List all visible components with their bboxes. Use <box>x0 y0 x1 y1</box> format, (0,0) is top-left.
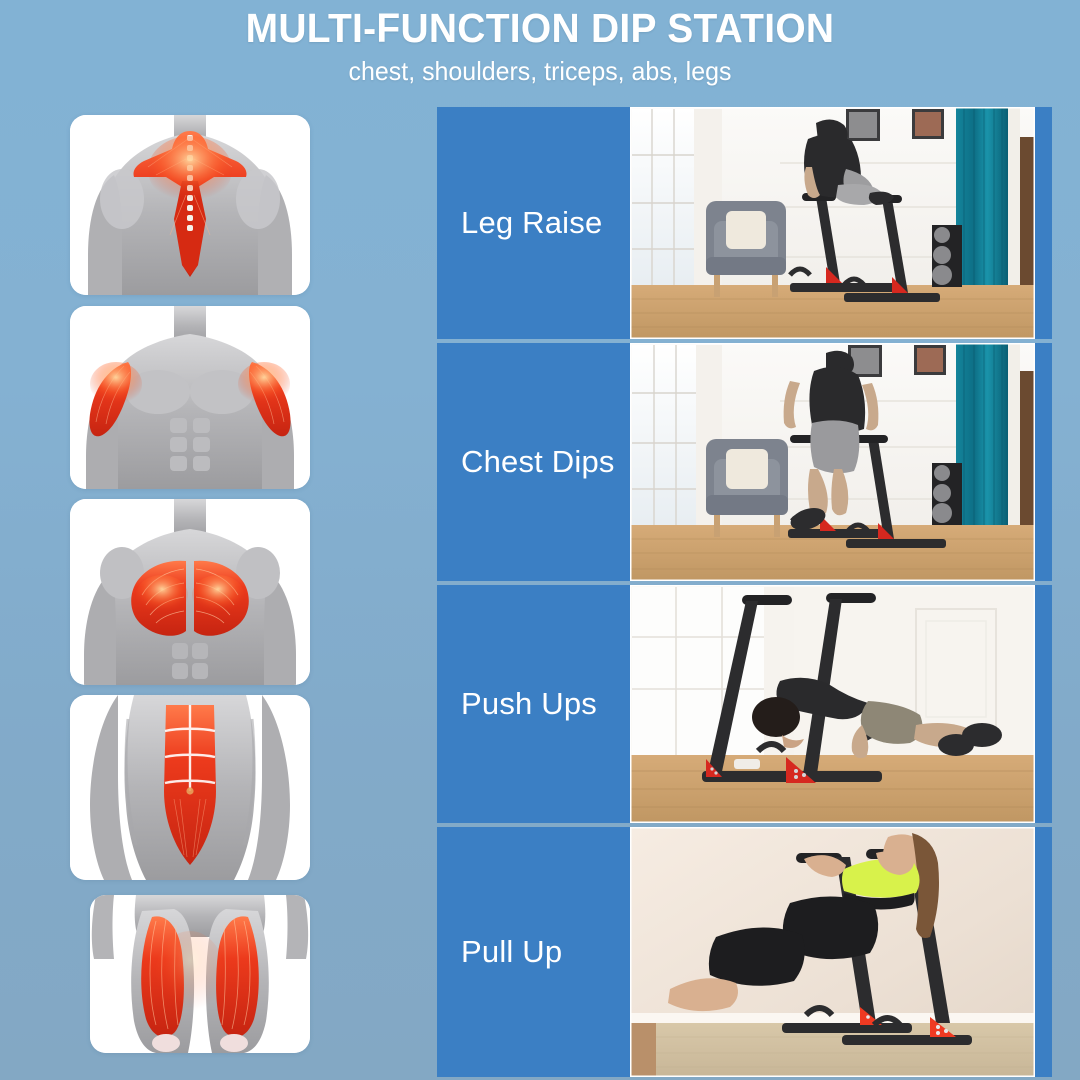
scene-pull-up <box>630 827 1035 1077</box>
exercise-label-text: Chest Dips <box>461 444 615 480</box>
exercise-photo-chest-dips <box>630 343 1035 581</box>
anatomy-illustration-legs <box>90 895 310 1053</box>
anatomy-illustration-chest <box>70 499 310 685</box>
exercise-row-chest-dips[interactable]: Chest Dips <box>437 343 1052 581</box>
anatomy-card-shoulders-deltoids <box>70 306 310 489</box>
row-edge-blue <box>1035 827 1052 1077</box>
anatomy-column <box>0 103 400 1080</box>
anatomy-illustration-back <box>70 115 310 295</box>
exercise-label-leg-raise: Leg Raise <box>437 107 630 339</box>
exercise-row-push-ups[interactable]: Push Ups <box>437 585 1052 823</box>
exercise-label-push-ups: Push Ups <box>437 585 630 823</box>
scene-chest-dips <box>630 343 1035 581</box>
row-edge-blue <box>1035 585 1052 823</box>
anatomy-illustration-abs <box>70 695 310 880</box>
page-subtitle: chest, shoulders, triceps, abs, legs <box>22 57 1059 86</box>
exercise-photo-pull-up <box>630 827 1035 1077</box>
anatomy-illustration-shoulders <box>70 306 310 489</box>
exercise-photo-push-ups <box>630 585 1035 823</box>
exercise-label-text: Push Ups <box>461 686 597 722</box>
anatomy-card-legs-quadriceps <box>90 895 310 1053</box>
exercise-label-chest-dips: Chest Dips <box>437 343 630 581</box>
exercise-row-leg-raise[interactable]: Leg Raise <box>437 107 1052 339</box>
scene-push-ups <box>630 585 1035 823</box>
exercise-row-pull-up[interactable]: Pull Up <box>437 827 1052 1077</box>
page-title: MULTI-FUNCTION DIP STATION <box>27 6 1053 50</box>
scene-leg-raise <box>630 107 1035 339</box>
page-header: MULTI-FUNCTION DIP STATION chest, should… <box>0 0 1080 86</box>
anatomy-card-chest-pectorals <box>70 499 310 685</box>
row-edge-blue <box>1035 107 1052 339</box>
exercise-photo-leg-raise <box>630 107 1035 339</box>
content-area: Leg Raise <box>0 103 1080 1080</box>
exercise-label-pull-up: Pull Up <box>437 827 630 1077</box>
anatomy-card-back-trapezius <box>70 115 310 295</box>
anatomy-card-abs-rectus-abdominis <box>70 695 310 880</box>
exercise-label-text: Pull Up <box>461 934 562 970</box>
exercise-label-text: Leg Raise <box>461 205 602 241</box>
exercise-rows: Leg Raise <box>437 103 1080 1080</box>
row-edge-blue <box>1035 343 1052 581</box>
